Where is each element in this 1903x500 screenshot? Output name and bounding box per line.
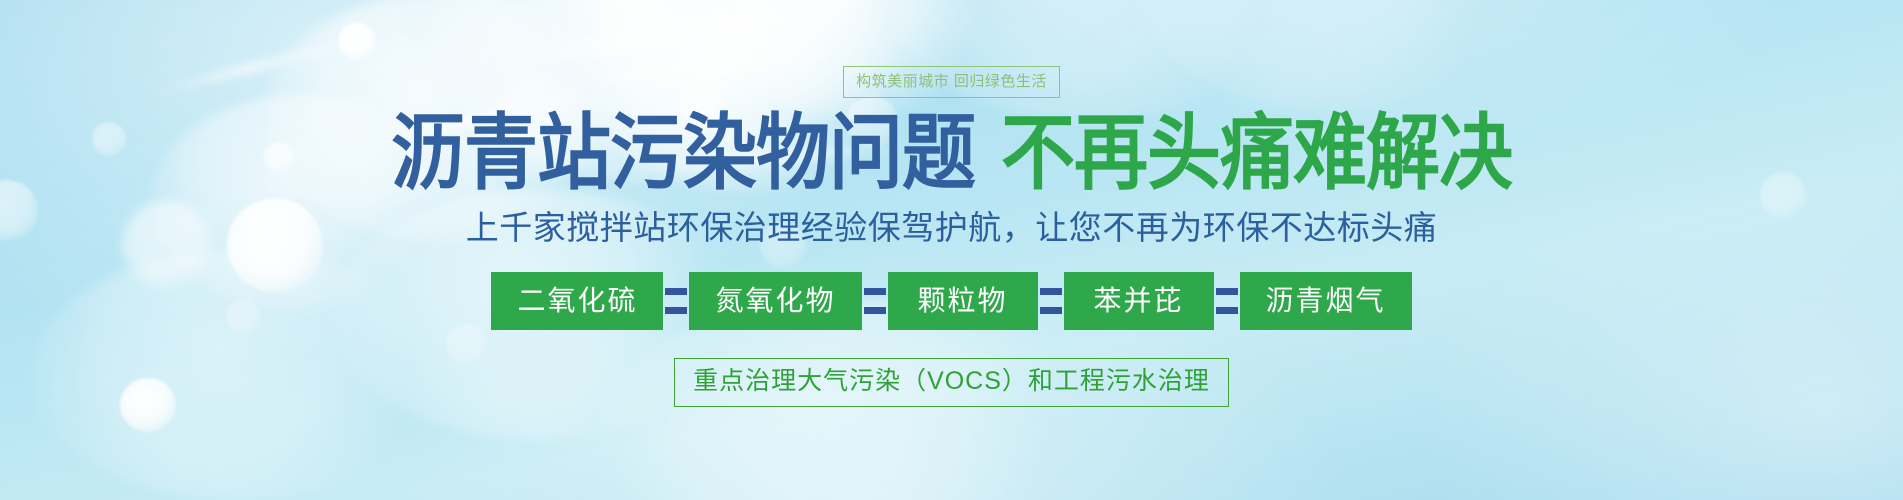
banner-tagline: 构筑美丽城市 回归绿色生活 — [843, 66, 1060, 98]
tag-separator — [663, 272, 689, 330]
tag-item[interactable]: 苯并芘 — [1064, 272, 1214, 330]
banner-content: 构筑美丽城市 回归绿色生活 沥青站污染物问题不再头痛难解决 上千家搅拌站环保治理… — [0, 0, 1903, 500]
banner-headline: 沥青站污染物问题不再头痛难解决 — [391, 112, 1512, 195]
tag-item[interactable]: 二氧化硫 — [491, 272, 663, 330]
tag-item[interactable]: 颗粒物 — [888, 272, 1038, 330]
tag-separator — [862, 272, 888, 330]
hero-banner: 构筑美丽城市 回归绿色生活 沥青站污染物问题不再头痛难解决 上千家搅拌站环保治理… — [0, 0, 1903, 500]
tag-item[interactable]: 沥青烟气 — [1240, 272, 1412, 330]
banner-subtitle: 上千家搅拌站环保治理经验保驾护航，让您不再为环保不达标头痛 — [466, 210, 1438, 246]
headline-green-text: 不再头痛难解决 — [1001, 105, 1512, 201]
tag-separator — [1038, 272, 1064, 330]
pollutant-tag-strip: 二氧化硫 氮氧化物 颗粒物 苯并芘 沥青烟气 — [491, 272, 1411, 330]
tag-item[interactable]: 氮氧化物 — [689, 272, 861, 330]
tag-separator — [1214, 272, 1240, 330]
banner-footnote: 重点治理大气污染（VOCS）和工程污水治理 — [674, 358, 1229, 407]
headline-blue-text: 沥青站污染物问题 — [391, 105, 975, 201]
